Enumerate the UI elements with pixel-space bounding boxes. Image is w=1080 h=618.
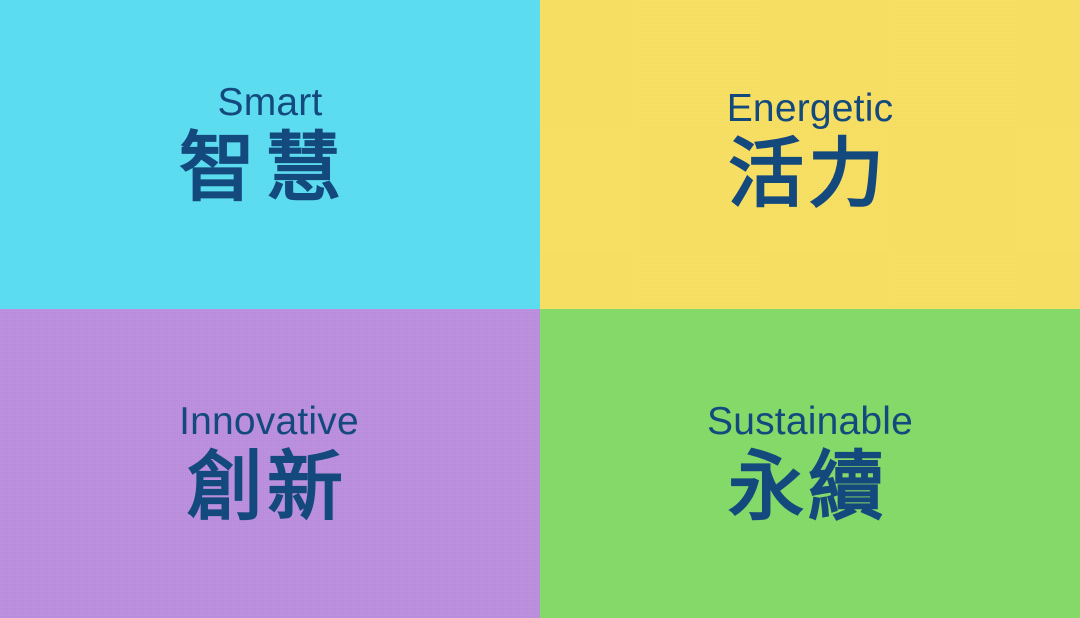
quadrant-energetic-text: Energetic 活力 bbox=[727, 89, 894, 216]
quadrant-sustainable-label-zh: 永續 bbox=[707, 447, 913, 529]
quadrant-innovative-label-zh: 創新 bbox=[179, 447, 359, 529]
quadrant-sustainable[interactable]: Sustainable 永續 bbox=[540, 309, 1080, 618]
quadrant-grid: Smart 智慧 Energetic 活力 Innovative 創新 Sust… bbox=[0, 0, 1080, 618]
quadrant-innovative-label-en: Innovative bbox=[179, 402, 359, 443]
quadrant-sustainable-text: Sustainable 永續 bbox=[707, 402, 913, 529]
quadrant-innovative-text: Innovative 創新 bbox=[179, 402, 359, 529]
quadrant-energetic-label-zh: 活力 bbox=[727, 134, 894, 216]
quadrant-smart-label-en: Smart bbox=[179, 83, 361, 124]
quadrant-innovative[interactable]: Innovative 創新 bbox=[0, 309, 540, 618]
quadrant-energetic-label-en: Energetic bbox=[727, 89, 894, 130]
quadrant-energetic[interactable]: Energetic 活力 bbox=[540, 0, 1080, 309]
quadrant-smart-label-zh: 智慧 bbox=[179, 128, 361, 210]
brand-values-board: Smart 智慧 Energetic 活力 Innovative 創新 Sust… bbox=[0, 0, 1080, 618]
quadrant-smart[interactable]: Smart 智慧 bbox=[0, 0, 540, 309]
quadrant-smart-text: Smart 智慧 bbox=[179, 83, 361, 210]
quadrant-sustainable-label-en: Sustainable bbox=[707, 402, 913, 443]
